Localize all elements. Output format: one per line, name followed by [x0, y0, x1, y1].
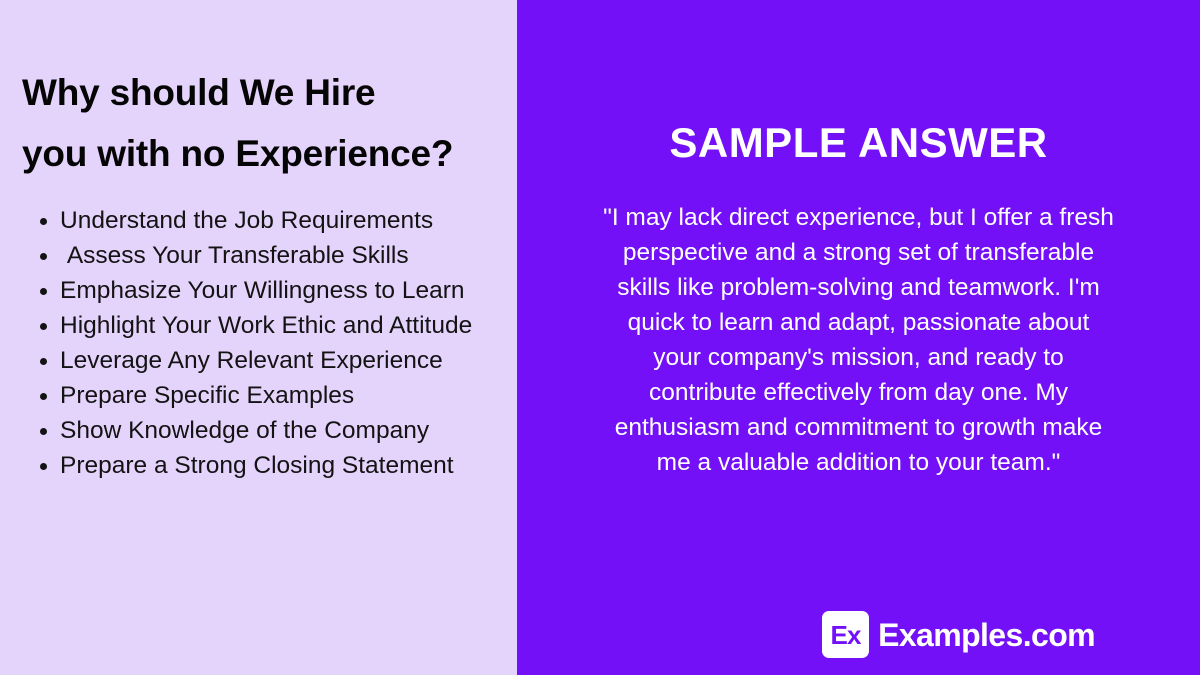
brand-logo[interactable]: Ex Examples.com: [822, 611, 1095, 658]
list-item: Show Knowledge of the Company: [22, 413, 499, 448]
list-item: Prepare a Strong Closing Statement: [22, 448, 499, 483]
list-item: Highlight Your Work Ethic and Attitude: [22, 308, 499, 343]
examples-logo-icon: Ex: [822, 611, 869, 658]
question-panel: Why should We Hire you with no Experienc…: [0, 0, 517, 675]
tips-list: Understand the Job Requirements Assess Y…: [22, 203, 499, 483]
list-item: Understand the Job Requirements: [22, 203, 499, 238]
list-item: Leverage Any Relevant Experience: [22, 343, 499, 378]
sample-answer-text: "I may lack direct experience, but I off…: [603, 200, 1115, 480]
sample-answer-panel: SAMPLE ANSWER "I may lack direct experie…: [517, 0, 1200, 675]
logo-mark-label: Ex: [830, 622, 860, 648]
page-title: Why should We Hire you with no Experienc…: [22, 62, 499, 185]
list-item: Emphasize Your Willingness to Learn: [22, 273, 499, 308]
logo-wordmark: Examples.com: [878, 619, 1095, 651]
list-item: Assess Your Transferable Skills: [22, 238, 499, 273]
list-item: Prepare Specific Examples: [22, 378, 499, 413]
slide-canvas: Why should We Hire you with no Experienc…: [0, 0, 1200, 675]
sample-answer-heading: SAMPLE ANSWER: [549, 120, 1168, 166]
